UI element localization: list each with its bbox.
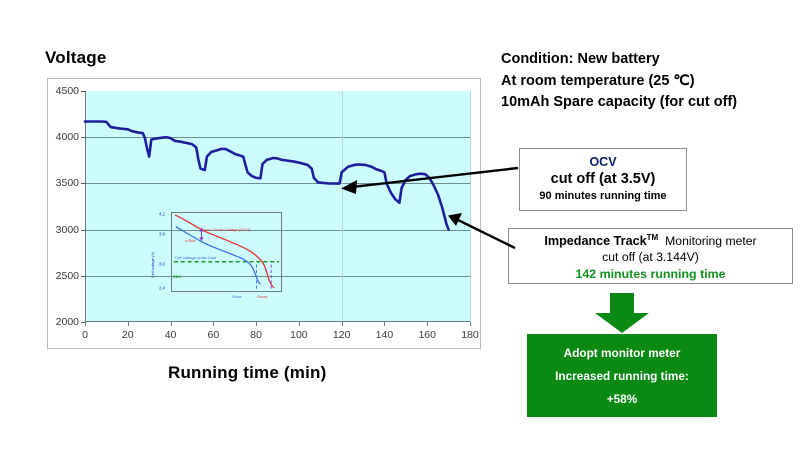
- x-tick-label: 40: [165, 329, 177, 341]
- y-tick-label: 3500: [56, 177, 79, 189]
- inset-plot-area: [171, 212, 282, 292]
- green-down-arrow-icon: [593, 293, 651, 333]
- inset-ocv-label: Open Circuit Voltage (OCV): [201, 227, 250, 232]
- inset-ir-label: I×Rdc: [185, 238, 196, 243]
- x-axis-title: Running time (min): [168, 363, 326, 383]
- plot-wrapper: 200025003000350040004500 020406080100120…: [85, 91, 470, 322]
- inset-chart: Cell voltage (V) 4.23.83.02.4: [149, 208, 282, 304]
- inset-load-label: Cell voltage under load: [175, 255, 216, 260]
- result-line-3: +58%: [527, 392, 717, 406]
- inset-x-marker-1: Gcue: [232, 294, 242, 299]
- impedance-callout-line-1: Impedance TrackTM Monitoring meter: [509, 233, 792, 250]
- x-tick-label: 0: [82, 329, 88, 341]
- inset-y-axis-label: Cell voltage (V): [151, 252, 155, 278]
- x-tick-mark: [342, 322, 343, 326]
- inset-y-tick-label: 3.8: [159, 232, 165, 237]
- result-line-1: Adopt monitor meter: [527, 346, 717, 360]
- x-tick-label: 140: [376, 329, 394, 341]
- x-axis-line: [85, 321, 470, 322]
- x-tick-label: 100: [290, 329, 308, 341]
- impedance-callout-line-3: 142 minutes running time: [509, 266, 792, 282]
- y-tick-label: 3000: [56, 224, 79, 236]
- x-tick-mark: [256, 322, 257, 326]
- inset-x-marker-2: Gmax: [257, 294, 268, 299]
- condition-line-3: 10mAh Spare capacity (for cut off): [501, 92, 737, 114]
- ocv-callout-title: OCV: [520, 154, 686, 170]
- x-tick-label: 180: [461, 329, 479, 341]
- y-tick-label: 2500: [56, 270, 79, 282]
- inset-y-tick-label: 3.0: [159, 262, 165, 267]
- slide-root: Voltage 200025003000350040004500 0204060…: [0, 0, 800, 464]
- x-tick-label: 60: [207, 329, 219, 341]
- x-tick-mark: [299, 322, 300, 326]
- x-tick-mark: [85, 322, 86, 326]
- x-tick-label: 80: [250, 329, 262, 341]
- y-axis-title: Voltage: [45, 48, 107, 68]
- x-tick-mark: [427, 322, 428, 326]
- result-line-2: Increased running time:: [527, 369, 717, 383]
- x-tick-mark: [384, 322, 385, 326]
- inset-y-tick-label: 2.4: [159, 286, 165, 291]
- y-tick-label: 4000: [56, 131, 79, 143]
- ocv-callout-box: OCV cut off (at 3.5V) 90 minutes running…: [519, 148, 687, 211]
- voltage-discharge-chart: 200025003000350040004500 020406080100120…: [47, 78, 481, 349]
- x-tick-label: 160: [418, 329, 436, 341]
- trademark-icon: TM: [647, 233, 659, 242]
- ocv-callout-subtitle: cut off (at 3.5V): [520, 170, 686, 189]
- x-tick-mark: [128, 322, 129, 326]
- x-tick-mark: [213, 322, 214, 326]
- inset-curves: [172, 213, 281, 291]
- y-tick-label: 4500: [56, 85, 79, 97]
- impedance-brand: Impedance Track: [544, 234, 646, 248]
- inset-edv-label: EDV: [173, 274, 181, 279]
- result-box: Adopt monitor meter Increased running ti…: [527, 334, 717, 417]
- x-gridline: [470, 91, 471, 322]
- ocv-callout-note: 90 minutes running time: [520, 189, 686, 203]
- x-tick-mark: [171, 322, 172, 326]
- y-tick-label: 2000: [56, 316, 79, 328]
- inset-y-tick-label: 4.2: [159, 212, 165, 217]
- condition-line-2: At room temperature (25 ℃): [501, 71, 737, 93]
- impedance-callout-box: Impedance TrackTM Monitoring meter cut o…: [508, 228, 793, 284]
- condition-line-1: Condition: New battery: [501, 49, 737, 71]
- x-tick-label: 120: [333, 329, 351, 341]
- condition-text: Condition: New battery At room temperatu…: [501, 49, 737, 114]
- x-tick-mark: [470, 322, 471, 326]
- x-tick-label: 20: [122, 329, 134, 341]
- impedance-callout-line-2: cut off (at 3.144V): [509, 250, 792, 266]
- impedance-suffix: Monitoring meter: [665, 234, 756, 248]
